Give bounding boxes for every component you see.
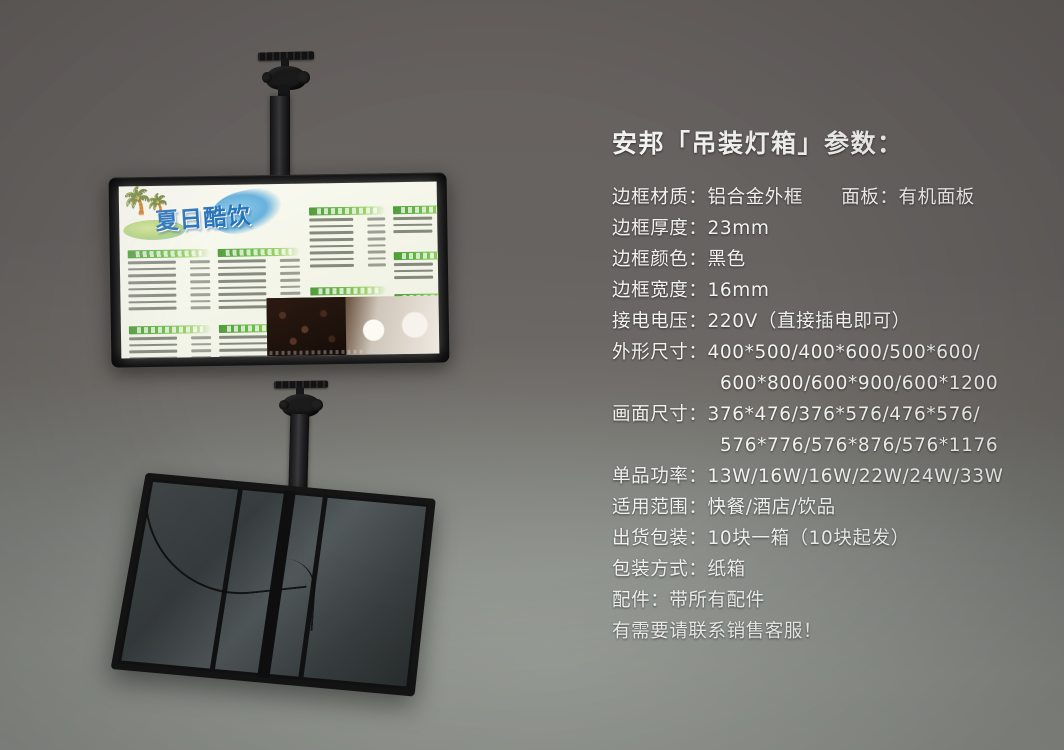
menu-artwork: 🌴 🌴 夏日酷饮 xyxy=(119,182,440,359)
spec-line: 600*800/600*900/600*1200 xyxy=(612,368,1042,399)
menu-row xyxy=(128,259,210,265)
spec-line: 边框宽度：16mm xyxy=(612,275,1042,306)
menu-title: 夏日酷饮 xyxy=(154,196,252,236)
menu-title-text: 夏日酷饮 xyxy=(155,203,253,235)
menu-row xyxy=(393,228,439,234)
product-photo-stage: 🌴 🌴 夏日酷饮 xyxy=(0,0,1064,750)
spec-line: 配件：带所有配件 xyxy=(612,585,1042,616)
tension-knob-icon-upper xyxy=(297,71,310,84)
spec-title: 安邦「吊装灯箱」参数： xyxy=(612,124,1042,160)
drop-pole-upper xyxy=(270,96,290,180)
menu-row xyxy=(129,305,211,311)
menu-row xyxy=(128,272,210,278)
spec-line: 边框厚度：23mm xyxy=(612,213,1042,244)
menu-row xyxy=(394,268,439,274)
menu-column-four-mid xyxy=(394,251,440,282)
menu-row xyxy=(309,223,385,229)
menu-row xyxy=(128,292,210,298)
menu-section-header xyxy=(393,205,439,214)
menu-row xyxy=(310,262,386,268)
menu-row xyxy=(310,256,386,262)
menu-row xyxy=(393,215,439,221)
menu-row xyxy=(128,266,210,272)
menu-row xyxy=(310,249,386,255)
menu-row xyxy=(394,274,439,280)
spec-line: 适用范围：快餐/酒店/饮品 xyxy=(612,492,1042,523)
menu-section-header xyxy=(309,206,385,215)
tension-knob-icon-lower-left xyxy=(279,400,289,410)
spec-line: 边框颜色：黑色 xyxy=(612,244,1042,275)
menu-section-header xyxy=(128,249,210,258)
menu-row xyxy=(129,335,211,341)
menu-row xyxy=(128,299,210,305)
spec-line: 576*776/576*876/576*1176 xyxy=(612,430,1042,461)
menu-row xyxy=(129,342,211,348)
menu-column-three xyxy=(309,206,386,270)
tension-knob-icon-upper-left xyxy=(262,72,272,83)
menu-row xyxy=(218,258,300,264)
menu-section-header xyxy=(129,325,211,334)
coffee-beans-icon xyxy=(267,296,347,356)
menu-row xyxy=(218,271,300,277)
spec-line: 接电电压：220V（直接插电即可） xyxy=(612,306,1042,337)
menu-row xyxy=(218,277,300,283)
lightbox-top-lit[interactable]: 🌴 🌴 夏日酷饮 xyxy=(109,172,450,367)
spec-panel: 安邦「吊装灯箱」参数： 边框材质：铝合金外框 面板：有机面板边框厚度：23mm边… xyxy=(612,124,1042,647)
menu-row xyxy=(309,236,385,242)
spec-line: 包装方式：纸箱 xyxy=(612,554,1042,585)
menu-section-header xyxy=(394,251,440,260)
menu-column-four xyxy=(393,205,439,236)
tension-knob-icon-lower xyxy=(311,399,323,411)
spec-line: 有需要请联系销售客服！ xyxy=(612,616,1042,647)
menu-row xyxy=(394,261,439,267)
menu-row xyxy=(128,279,210,285)
spec-line: 边框材质：铝合金外框 面板：有机面板 xyxy=(612,182,1042,213)
menu-column-left xyxy=(128,249,211,313)
menu-section-header xyxy=(218,248,300,257)
coffee-photo xyxy=(267,295,440,356)
menu-row xyxy=(218,264,300,270)
spec-line: 单品功率：13W/16W/16W/22W/24W/33W xyxy=(612,461,1042,492)
menu-row xyxy=(310,243,386,249)
spec-line: 出货包装：10块一箱（10块起发） xyxy=(612,523,1042,554)
menu-row xyxy=(218,291,300,297)
spec-line: 外形尺寸：400*500/400*600/500*600/ xyxy=(612,337,1042,368)
spec-line-list: 边框材质：铝合金外框 面板：有机面板边框厚度：23mm边框颜色：黑色边框宽度：1… xyxy=(612,182,1042,647)
menu-row xyxy=(218,284,300,290)
menu-section-header xyxy=(310,286,386,295)
spec-line: 画面尺寸：376*476/376*576/476*576/ xyxy=(612,399,1042,430)
menu-row xyxy=(309,230,385,236)
menu-row xyxy=(128,285,210,291)
menu-row xyxy=(393,222,439,228)
menu-row xyxy=(309,216,385,222)
